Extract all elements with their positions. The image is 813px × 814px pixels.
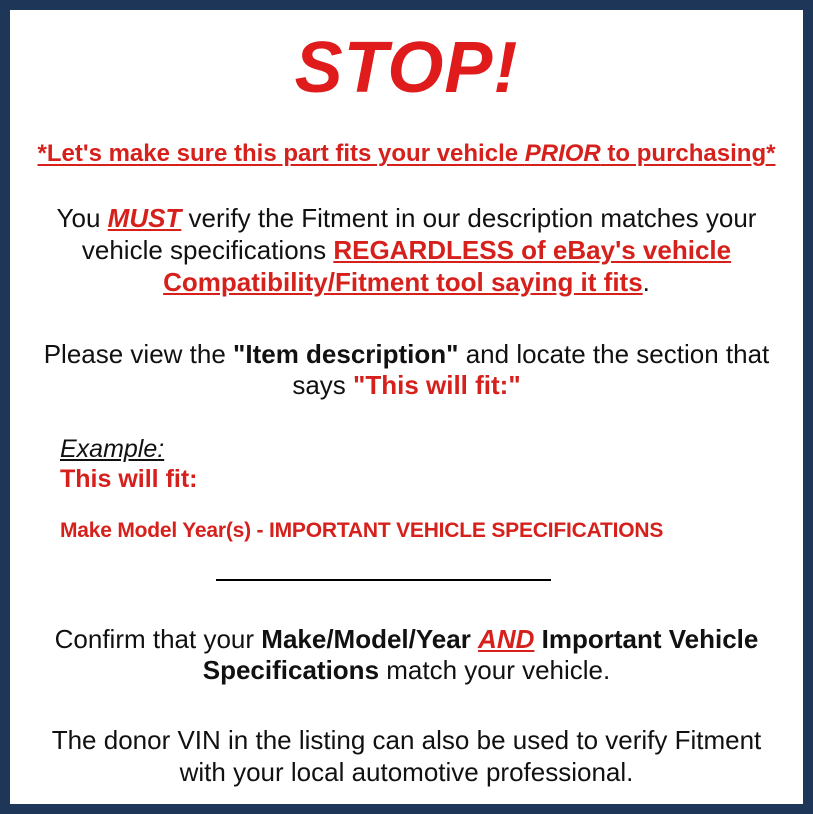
make-model-year-emphasis: Make/Model/Year <box>261 624 478 654</box>
confirm-text-2 <box>534 624 541 654</box>
view-text-1: Please view the <box>44 339 233 369</box>
must-text-3: . <box>643 267 650 297</box>
stop-title: STOP! <box>24 32 789 104</box>
confirm-text-3: match your vehicle. <box>379 655 610 685</box>
thank-you-line: Thank you for confirming Fitment! <box>24 803 789 814</box>
example-block: Example: This will fit: Make Model Year(… <box>24 436 789 544</box>
this-will-fit-emphasis: "This will fit:" <box>353 370 521 400</box>
confirm-text-1: Confirm that your <box>55 624 262 654</box>
must-text-1: You <box>57 203 108 233</box>
item-description-emphasis: "Item description" <box>233 339 458 369</box>
headline-prior-emphasis: PRIOR <box>525 140 601 167</box>
must-verify-paragraph: You MUST verify the Fitment in our descr… <box>24 203 789 298</box>
headline-banner: *Let's make sure this part fits your veh… <box>24 141 789 167</box>
fitment-notice-card: STOP! *Let's make sure this part fits yo… <box>0 0 813 814</box>
divider-container <box>24 568 789 586</box>
view-description-paragraph: Please view the "Item description" and l… <box>24 339 789 402</box>
example-label: Example: <box>60 436 789 463</box>
donor-vin-paragraph: The donor VIN in the listing can also be… <box>24 725 789 788</box>
horizontal-divider <box>216 579 551 581</box>
example-specification-line: Make Model Year(s) - IMPORTANT VEHICLE S… <box>60 518 789 543</box>
headline-text-after: to purchasing* <box>601 140 776 167</box>
example-this-will-fit: This will fit: <box>60 465 789 495</box>
must-emphasis: MUST <box>108 203 182 233</box>
confirm-paragraph: Confirm that your Make/Model/Year AND Im… <box>24 624 789 687</box>
and-emphasis: AND <box>478 624 534 654</box>
notice-content: STOP! *Let's make sure this part fits yo… <box>10 32 803 814</box>
headline-text-before: *Let's make sure this part fits your veh… <box>38 140 525 167</box>
